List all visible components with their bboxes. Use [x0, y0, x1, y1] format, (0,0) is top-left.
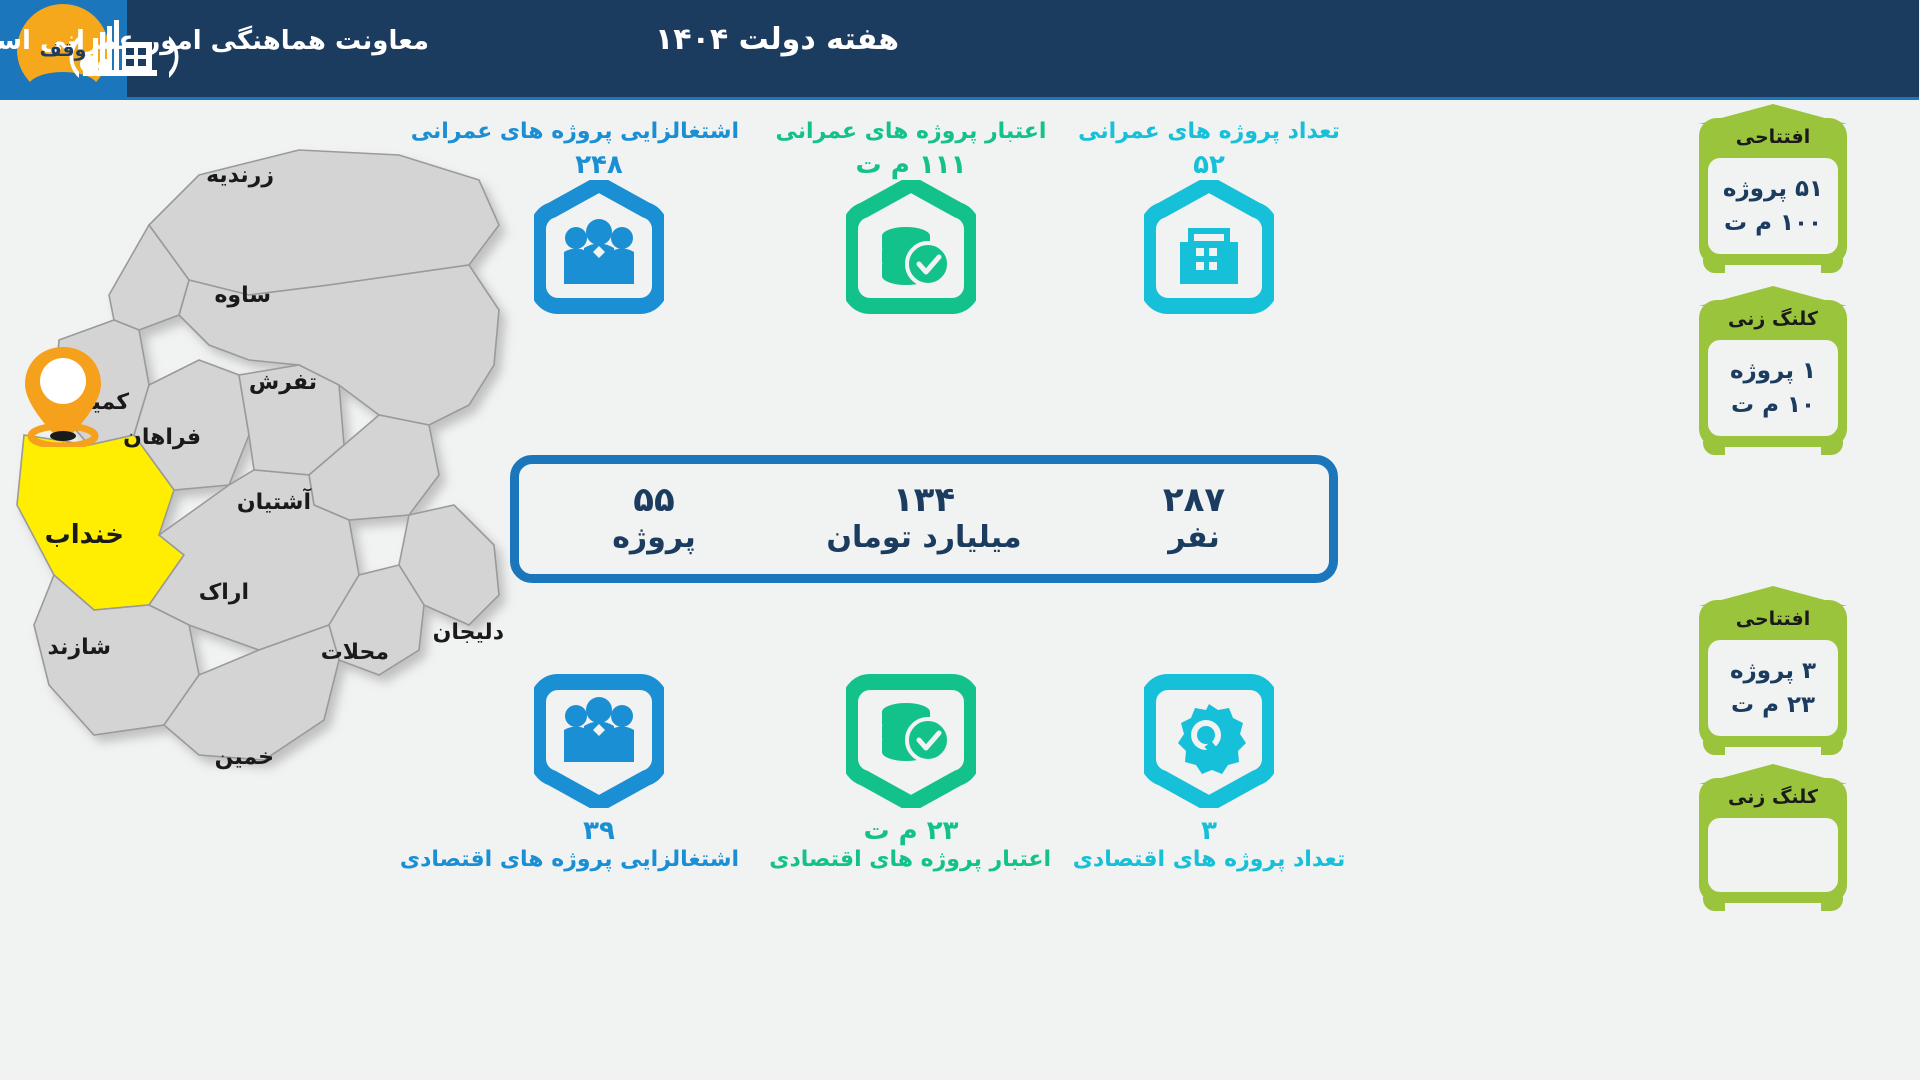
total-number: ۵۵: [520, 482, 790, 519]
kpi-title: اشتغالزایی پروژه های عمرانی: [460, 118, 740, 146]
kpi-eqtesadi-credit: ۲۳ م ت اعتبار پروژه های اقتصادی: [772, 672, 1052, 874]
side-card-body: ۵۱ پروژه ۱۰۰ م ت: [1700, 158, 1848, 265]
side-card-body: [1700, 818, 1848, 903]
kpi-omrani-count: تعداد پروژه های عمرانی ۵۲: [1070, 118, 1350, 316]
card-notch-shape: [1700, 586, 1848, 606]
coins-check-icon: [772, 672, 1052, 808]
side-card-eqtesadi-kolang: کلنگ زنی: [1700, 778, 1848, 903]
total-number: ۲۸۷: [1060, 482, 1330, 519]
gear-search-icon: [1070, 672, 1350, 808]
location-pin-icon: [20, 343, 108, 447]
total-number: ۱۳۴: [790, 482, 1060, 519]
card-ears-shape: [1700, 259, 1848, 273]
side-card-header: کلنگ زنی: [1700, 300, 1848, 340]
side-card-header: کلنگ زنی: [1700, 778, 1848, 818]
side-card-body: ۳ پروژه ۲۳ م ت: [1700, 640, 1848, 747]
total-unit: میلیارد تومان: [790, 519, 1060, 557]
side-card-omrani-eftetah: افتتاحی ۵۱ پروژه ۱۰۰ م ت: [1700, 118, 1848, 265]
kpi-eqtesadi-count: ۳ تعداد پروژه های اقتصادی: [1070, 672, 1350, 874]
kpi-value: ۳۹: [460, 816, 740, 846]
event-title: هفته دولت ۱۴۰۴: [656, 22, 900, 57]
kpi-eqtesadi-jobs: ۳۹ اشتغالزایی پروژه های اقتصادی: [460, 672, 740, 874]
kpi-title: تعداد پروژه های عمرانی: [1070, 118, 1350, 146]
kpi-value: ۵۲: [1070, 150, 1350, 180]
kpi-value: ۲۴۸: [460, 150, 740, 180]
side-card-eqtesadi-eftetah: افتتاحی ۳ پروژه ۲۳ م ت: [1700, 600, 1848, 747]
kpi-value: ۲۳ م ت: [772, 816, 1052, 846]
card-ears-shape: [1700, 897, 1848, 911]
total-cell-projects: ۵۵ پروژه: [520, 482, 790, 557]
kpi-title: تعداد پروژه های اقتصادی: [1070, 846, 1350, 874]
total-unit: نفر: [1060, 519, 1330, 557]
kpi-omrani-jobs: اشتغالزایی پروژه های عمرانی ۲۴۸: [460, 118, 740, 316]
building-icon: [1070, 180, 1350, 316]
side-card-body: ۱ پروژه ۱۰ م ت: [1700, 340, 1848, 447]
kpi-value: ۱۱۱ م ت: [772, 150, 1052, 180]
people-icon: [460, 180, 740, 316]
card-notch-shape: [1700, 104, 1848, 124]
side-card-header: افتتاحی: [1700, 600, 1848, 640]
side-card-line2: ۱۰ م ت: [1732, 388, 1816, 423]
total-cell-credit: ۱۳۴ میلیارد تومان: [790, 482, 1060, 557]
side-card-title: افتتاحی: [1737, 126, 1812, 148]
side-card-header: افتتاحی: [1700, 118, 1848, 158]
side-card-line1: ۱ پروژه: [1731, 354, 1817, 389]
coins-check-icon: [772, 180, 1052, 316]
side-card-line2: ۱۰۰ م ت: [1725, 206, 1823, 241]
side-card-omrani-kolang: کلنگ زنی ۱ پروژه ۱۰ م ت: [1700, 300, 1848, 447]
card-notch-shape: [1700, 286, 1848, 306]
total-unit: پروژه: [520, 519, 790, 557]
side-card-title: کلنگ زنی: [1729, 786, 1819, 808]
people-icon: [460, 672, 740, 808]
side-card-inner: ۵۱ پروژه ۱۰۰ م ت: [1709, 158, 1839, 254]
kpi-value: ۳: [1070, 816, 1350, 846]
side-card-line1: ۵۱ پروژه: [1724, 172, 1824, 207]
side-card-title: کلنگ زنی: [1729, 308, 1819, 330]
side-card-title: افتتاحی: [1737, 608, 1812, 630]
total-cell-jobs: ۲۸۷ نفر: [1060, 482, 1330, 557]
side-card-inner: ۳ پروژه ۲۳ م ت: [1709, 640, 1839, 736]
card-ears-shape: [1700, 441, 1848, 455]
side-card-line2: ۲۳ م ت: [1732, 688, 1816, 723]
card-notch-shape: [1700, 764, 1848, 784]
side-card-inner: ۱ پروژه ۱۰ م ت: [1709, 340, 1839, 436]
page-header: وقف معاونت هماهنگی امور عمرانی استانداری…: [0, 0, 1920, 100]
side-card-inner: [1709, 818, 1839, 892]
side-card-line1: ۳ پروژه: [1731, 654, 1817, 689]
totals-summary-bar: ۲۸۷ نفر ۱۳۴ میلیارد تومان ۵۵ پروژه: [511, 455, 1339, 583]
card-ears-shape: [1700, 741, 1848, 755]
kpi-title: اعتبار پروژه های عمرانی: [772, 118, 1052, 146]
kpi-title: اعتبار پروژه های اقتصادی: [772, 846, 1052, 874]
logo-text: وقف: [41, 41, 88, 60]
kpi-title: اشتغالزایی پروژه های اقتصادی: [460, 846, 740, 874]
kpi-omrani-credit: اعتبار پروژه های عمرانی ۱۱۱ م ت: [772, 118, 1052, 316]
